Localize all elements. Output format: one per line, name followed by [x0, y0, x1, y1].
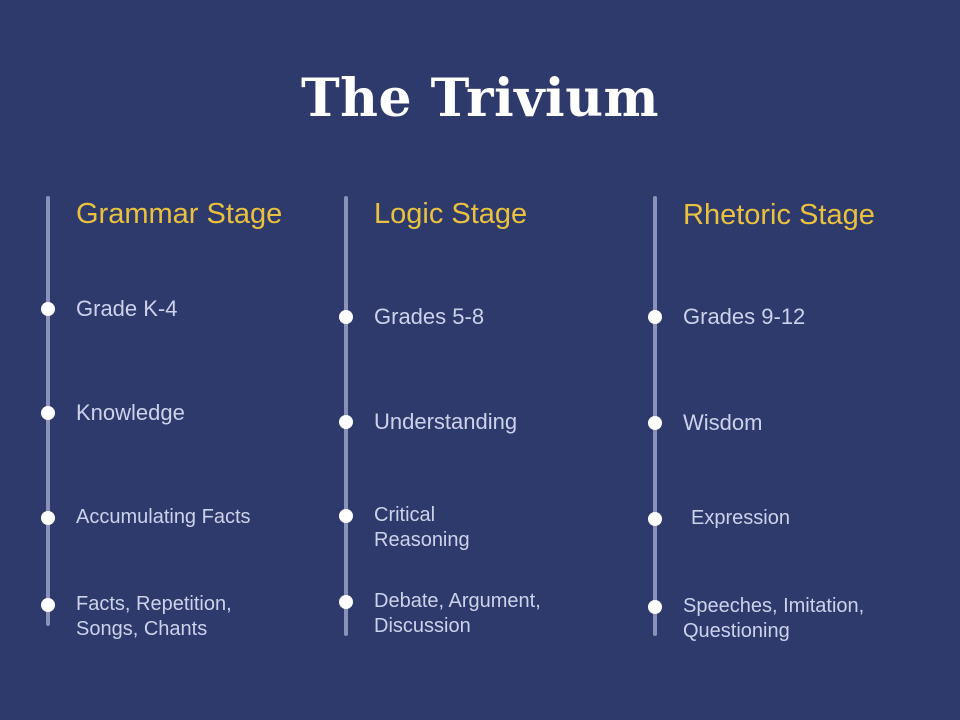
bullet-dot-icon: [41, 511, 55, 525]
list-item-label: Expression: [691, 506, 790, 531]
stage-column-logic: Logic Stage Grades 5-8 Understanding Cri…: [338, 0, 638, 720]
list-item-label: Accumulating Facts: [76, 505, 251, 530]
list-item-label: Understanding: [374, 409, 517, 435]
bullet-dot-icon: [648, 416, 662, 430]
stage-heading: Grammar Stage: [76, 196, 282, 232]
bullet-dot-icon: [339, 509, 353, 523]
list-item-label: Speeches, Imitation, Questioning: [683, 594, 864, 644]
bullet-dot-icon: [648, 310, 662, 324]
bullet-dot-icon: [41, 406, 55, 420]
bullet-dot-icon: [339, 415, 353, 429]
stage-heading: Logic Stage: [374, 196, 527, 232]
list-item-label: Facts, Repetition, Songs, Chants: [76, 592, 232, 642]
list-item-label: Grades 9-12: [683, 304, 805, 330]
stage-column-rhetoric: Rhetoric Stage Grades 9-12 Wisdom Expres…: [647, 0, 952, 720]
stage-heading: Rhetoric Stage: [683, 197, 875, 233]
bullet-dot-icon: [41, 302, 55, 316]
stage-column-grammar: Grammar Stage Grade K-4 Knowledge Accumu…: [40, 0, 340, 720]
stage-columns: Grammar Stage Grade K-4 Knowledge Accumu…: [0, 0, 960, 720]
list-item-label: Knowledge: [76, 400, 185, 426]
bullet-dot-icon: [339, 595, 353, 609]
list-item-label: Debate, Argument, Discussion: [374, 589, 541, 639]
list-item-label: Wisdom: [683, 410, 762, 436]
list-item-label: Grade K-4: [76, 296, 178, 322]
bullet-dot-icon: [41, 598, 55, 612]
bullet-dot-icon: [339, 310, 353, 324]
trivium-slide: The Trivium Grammar Stage Grade K-4 Know…: [0, 0, 960, 720]
bullet-dot-icon: [648, 600, 662, 614]
list-item-label: Critical Reasoning: [374, 503, 470, 553]
list-item-label: Grades 5-8: [374, 304, 484, 330]
bullet-dot-icon: [648, 512, 662, 526]
